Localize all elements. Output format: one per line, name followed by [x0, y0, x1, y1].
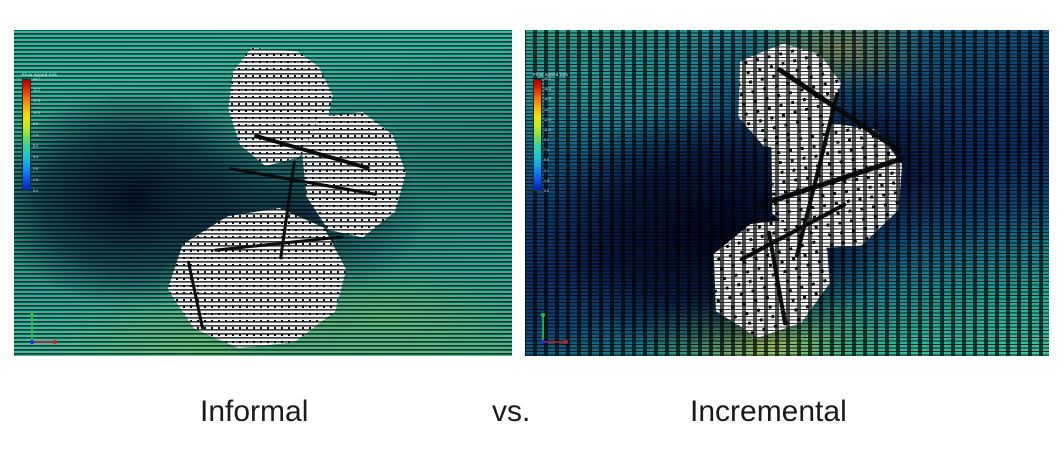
colorbar-tick: 12.9 [544, 118, 551, 122]
legend-informal: Flow speed m/s 14.7 13.2 11.8 10.3 8.8 7… [22, 72, 57, 191]
axis-triad-incremental [535, 308, 579, 348]
colorbar-tick: 5.9 [33, 144, 38, 148]
flow-field-informal [14, 30, 512, 356]
figure-caption: Informal vs. Incremental [0, 384, 1063, 440]
legend-body: 20.2 18.4 16.5 14.7 12.9 11.0 9.2 7.4 5.… [533, 79, 568, 191]
colorbar-tick: 18.4 [544, 87, 551, 91]
colorbar-tick: 2.9 [33, 167, 38, 171]
colorbar-tick: 9.2 [544, 138, 549, 142]
streamline-texture [525, 30, 1049, 356]
colorbar-tick: 7.4 [544, 148, 549, 152]
colorbar-gradient [533, 79, 542, 191]
flow-field-incremental [525, 30, 1049, 356]
colorbar-tick: 16.5 [544, 97, 551, 101]
colorbar-gradient [22, 79, 31, 191]
panel-informal[interactable]: Flow speed m/s 14.7 13.2 11.8 10.3 8.8 7… [14, 30, 512, 356]
colorbar-tick: 8.8 [33, 122, 38, 126]
colorbar-tick-labels: 20.2 18.4 16.5 14.7 12.9 11.0 9.2 7.4 5.… [544, 79, 566, 191]
colorbar-tick: 11.8 [33, 99, 40, 103]
panel-row: Flow speed m/s 14.7 13.2 11.8 10.3 8.8 7… [0, 30, 1063, 356]
colorbar-tick: 4.4 [33, 155, 38, 159]
colorbar-tick: 1.5 [33, 178, 38, 182]
colorbar-tick: 1.8 [544, 179, 549, 183]
axis-triad-icon [24, 308, 68, 348]
panel-incremental[interactable]: Flow speed m/s 20.2 18.4 16.5 14.7 12.9 … [525, 30, 1049, 356]
streamline-texture [14, 30, 512, 356]
colorbar-tick: 11.0 [544, 128, 551, 132]
axis-triad-icon [535, 308, 579, 348]
colorbar-tick: 0.0 [544, 189, 549, 193]
legend-body: 14.7 13.2 11.8 10.3 8.8 7.4 5.9 4.4 2.9 … [22, 79, 57, 191]
colorbar-tick: 10.3 [33, 111, 40, 115]
legend-incremental: Flow speed m/s 20.2 18.4 16.5 14.7 12.9 … [533, 72, 568, 191]
cfd-comparison-figure: Flow speed m/s 14.7 13.2 11.8 10.3 8.8 7… [0, 0, 1063, 460]
colorbar-tick: 0.0 [33, 189, 38, 193]
axis-triad-informal [24, 308, 68, 348]
colorbar-tick: 14.7 [544, 108, 551, 112]
caption-separator: vs. [492, 395, 530, 429]
caption-label-incremental: Incremental [690, 395, 847, 429]
colorbar-tick: 20.2 [544, 77, 551, 81]
colorbar-tick-labels: 14.7 13.2 11.8 10.3 8.8 7.4 5.9 4.4 2.9 … [33, 79, 55, 191]
colorbar-tick: 5.5 [544, 158, 549, 162]
colorbar-tick: 13.2 [33, 88, 40, 92]
colorbar-tick: 3.7 [544, 169, 549, 173]
colorbar-tick: 14.7 [33, 77, 40, 81]
caption-label-informal: Informal [200, 395, 308, 429]
colorbar-tick: 7.4 [33, 133, 38, 137]
